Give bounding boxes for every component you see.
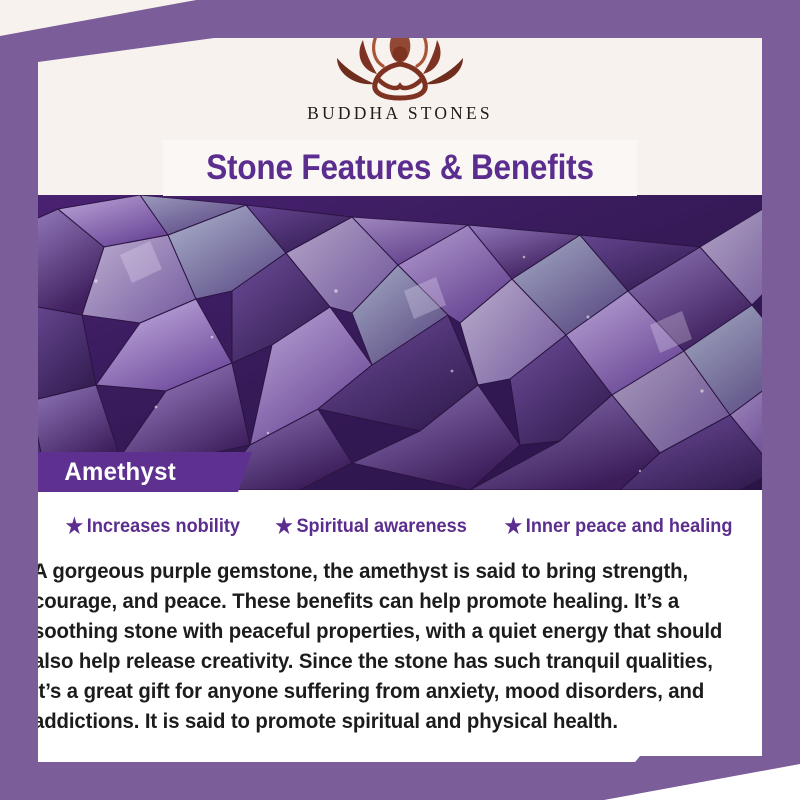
benefit-item: ★ Spiritual awareness (275, 515, 467, 538)
benefit-label: Increases nobility (87, 515, 240, 538)
stone-description: A gorgeous purple gemstone, the amethyst… (33, 556, 742, 736)
infographic-poster: BUDDHA STONES Stone Features & Benefits (0, 0, 800, 800)
page-title: Stone Features & Benefits (40, 140, 760, 196)
star-icon: ★ (505, 516, 523, 537)
star-icon: ★ (275, 516, 293, 537)
star-icon: ★ (65, 516, 83, 537)
benefit-item: ★ Increases nobility (65, 515, 239, 538)
benefit-label: Inner peace and healing (526, 515, 733, 538)
amethyst-crystal-cluster-photo (0, 195, 800, 490)
lotus-meditating-figure-logo (315, 14, 485, 102)
benefits-list: ★ Increases nobility ★ Spiritual awarene… (0, 515, 800, 538)
benefit-label: Spiritual awareness (297, 515, 467, 538)
benefit-item: ★ Inner peace and healing (505, 515, 733, 538)
stone-name: Amethyst (64, 452, 176, 492)
brand-header: BUDDHA STONES (0, 0, 800, 140)
brand-name: BUDDHA STONES (307, 103, 493, 124)
